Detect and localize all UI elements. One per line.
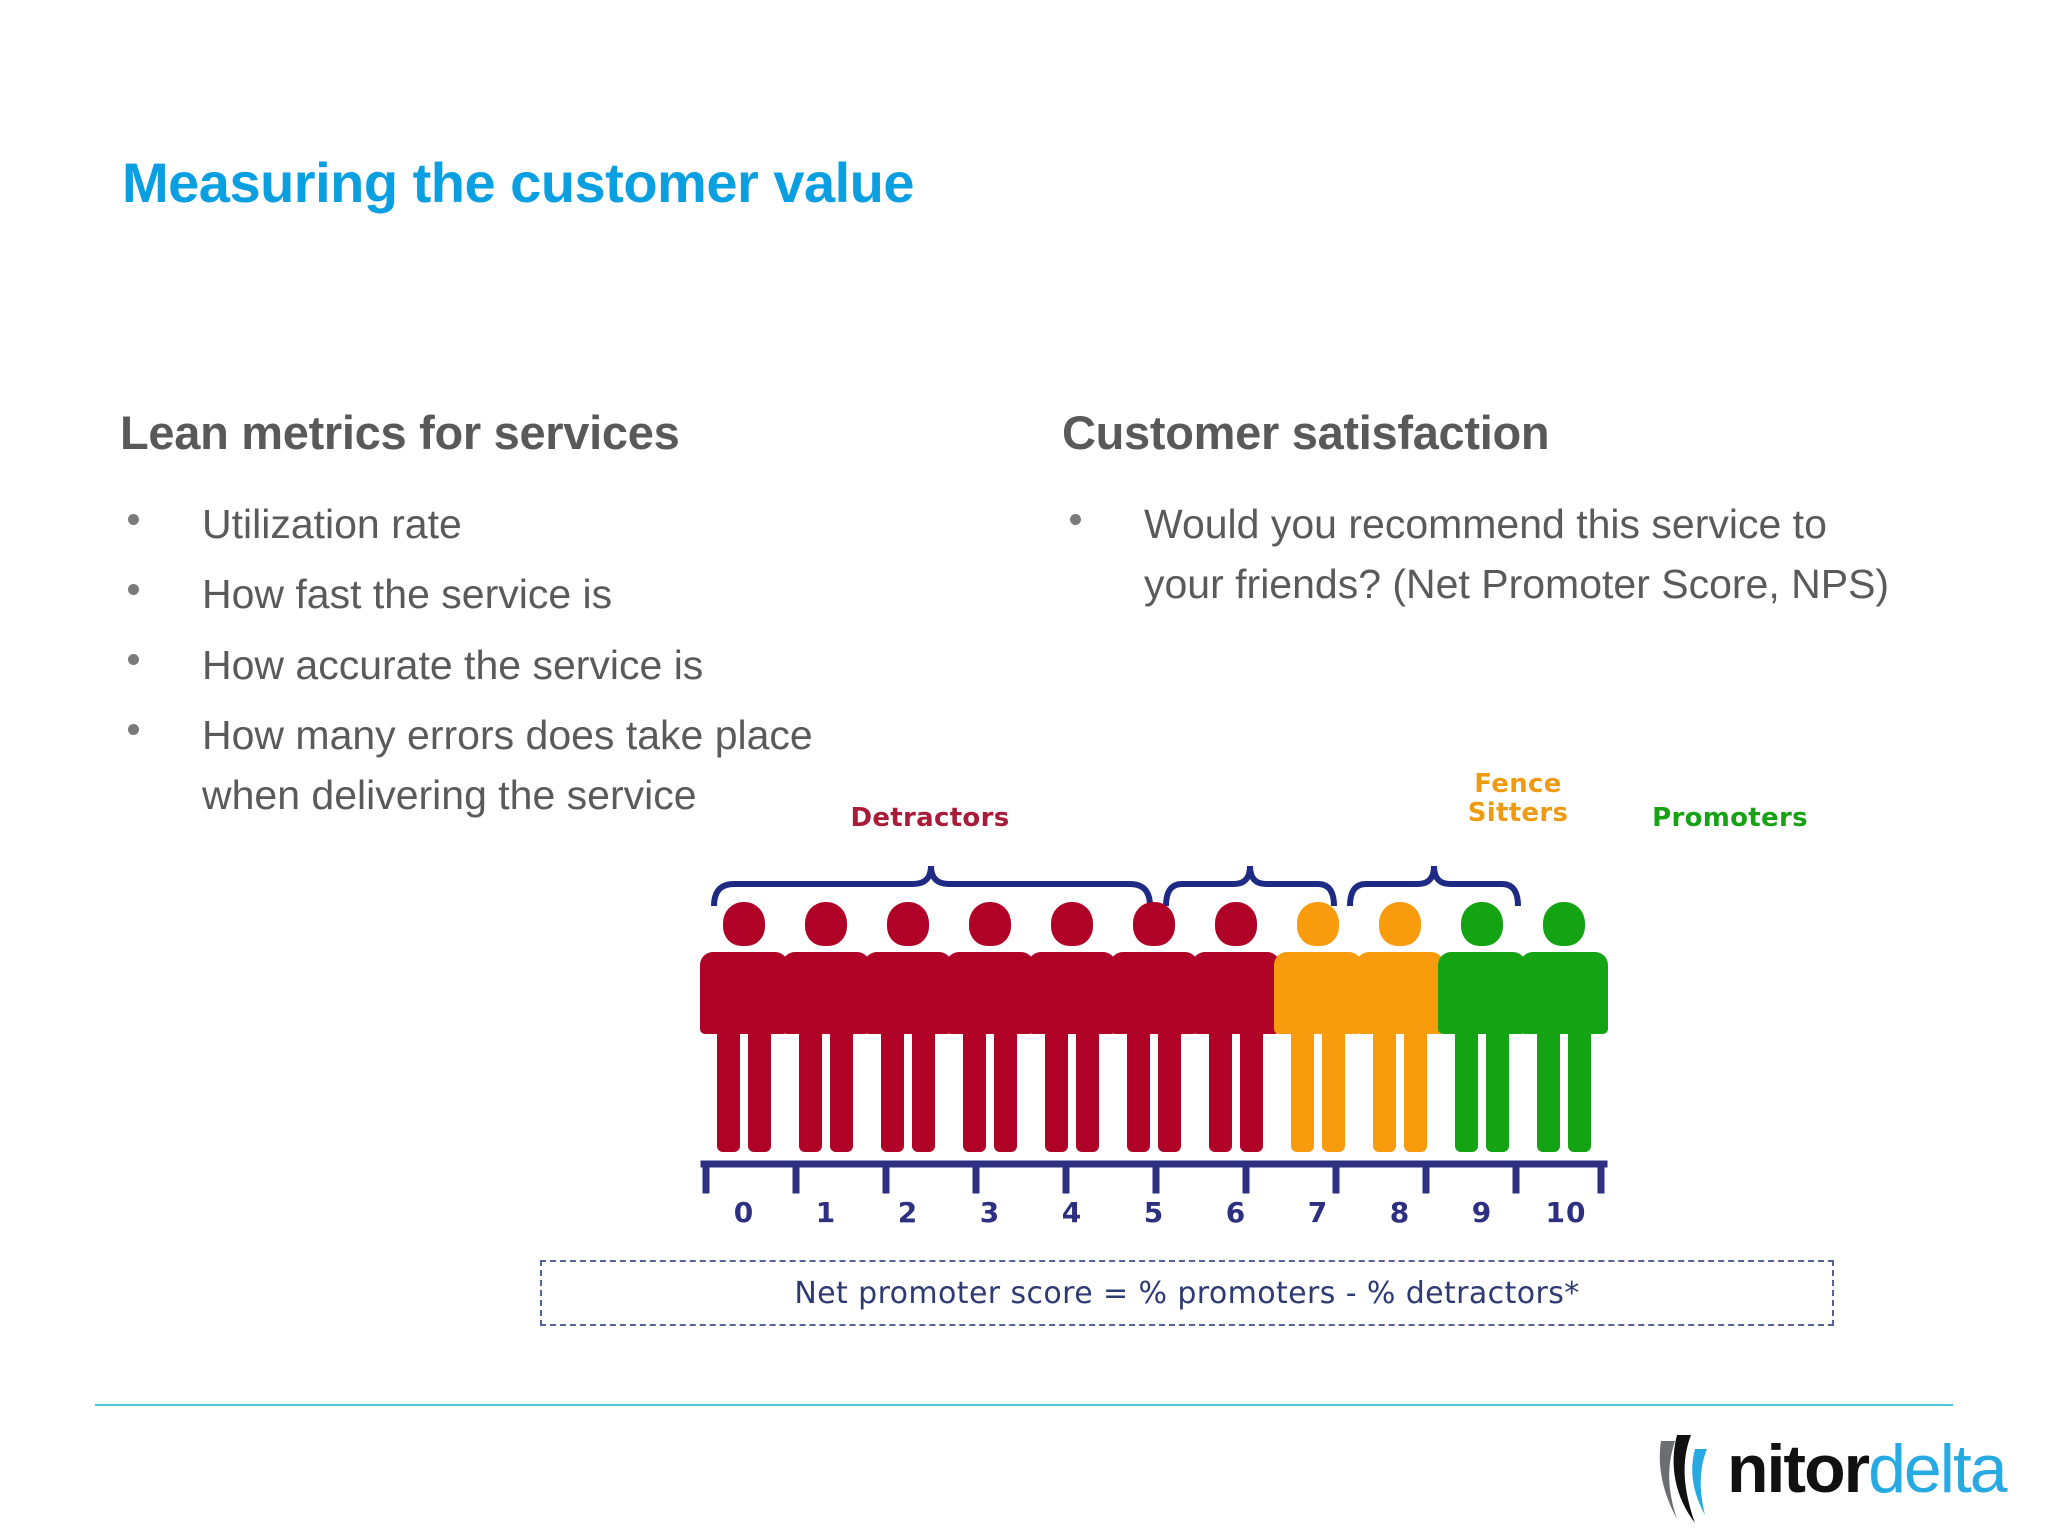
group-braces [700, 852, 2030, 906]
person-leg-left [717, 1030, 740, 1152]
promoters-label: Promoters [1600, 804, 1860, 833]
person-head [1133, 902, 1175, 946]
page-title: Measuring the customer value [122, 150, 914, 215]
scale-number-9: 9 [1452, 1196, 1512, 1229]
scale-number-4: 4 [1042, 1196, 1102, 1229]
person-figure-3 [946, 902, 1034, 1152]
list-item-label: Would you recommend this service to your… [1144, 501, 1889, 607]
person-leg-left [799, 1030, 822, 1152]
promoters-brace [1350, 866, 1518, 906]
person-torso [782, 952, 870, 1034]
nps-diagram: Detractors Fence Sitters Promoters [700, 760, 2030, 1400]
person-torso [1356, 952, 1444, 1034]
person-leg-left [1373, 1030, 1396, 1152]
person-figure-10 [1520, 902, 1608, 1152]
list-item-label: How accurate the service is [202, 642, 703, 688]
person-head [1461, 902, 1503, 946]
slide-canvas: Measuring the customer value Lean metric… [0, 0, 2048, 1536]
person-leg-left [963, 1030, 986, 1152]
right-column-heading: Customer satisfaction [1062, 405, 1892, 460]
fence-sitters-label: Fence Sitters [1438, 770, 1598, 828]
person-torso [700, 952, 788, 1034]
person-figure-7 [1274, 902, 1362, 1152]
right-column: Customer satisfaction Would you recommen… [1062, 405, 1892, 625]
scale-number-5: 5 [1124, 1196, 1184, 1229]
scale-number-2: 2 [878, 1196, 938, 1229]
person-torso [1110, 952, 1198, 1034]
person-head [1051, 902, 1093, 946]
bullet-dot-icon [128, 514, 139, 525]
person-head [887, 902, 929, 946]
scale-number-3: 3 [960, 1196, 1020, 1229]
person-figure-5 [1110, 902, 1198, 1152]
person-leg-right [1076, 1030, 1099, 1152]
nitor-delta-logo: nitordelta [1655, 1425, 1955, 1525]
list-item-label: Utilization rate [202, 501, 462, 547]
list-item: Would you recommend this service to your… [1062, 494, 1892, 615]
person-leg-left [1209, 1030, 1232, 1152]
scale-number-10: 10 [1536, 1196, 1596, 1229]
scale-number-6: 6 [1206, 1196, 1266, 1229]
bullet-dot-icon [128, 654, 139, 665]
list-item: How accurate the service is [120, 635, 910, 695]
score-axis-svg [700, 1160, 2030, 1196]
bullet-dot-icon [1070, 514, 1081, 525]
nps-formula-text: Net promoter score = % promoters - % det… [794, 1276, 1579, 1311]
braces-svg [700, 852, 2030, 906]
logo-primary-text: nitor [1727, 1431, 1868, 1507]
person-leg-right [1158, 1030, 1181, 1152]
person-figure-1 [782, 902, 870, 1152]
list-item: How fast the service is [120, 564, 910, 624]
person-figure-8 [1356, 902, 1444, 1152]
person-leg-right [1568, 1030, 1591, 1152]
person-torso [1028, 952, 1116, 1034]
scale-numbers: 0 1 2 3 4 5 6 7 8 9 10 [700, 1196, 2030, 1240]
person-leg-right [830, 1030, 853, 1152]
person-leg-right [1486, 1030, 1509, 1152]
person-torso [1192, 952, 1280, 1034]
person-figure-9 [1438, 902, 1526, 1152]
detractors-brace [714, 866, 1150, 906]
people-figures [700, 902, 2030, 1152]
person-figure-4 [1028, 902, 1116, 1152]
bullet-dot-icon [128, 584, 139, 595]
footer-divider [95, 1404, 1953, 1406]
logo-wordmark: nitordelta [1727, 1435, 2006, 1503]
fence-sitters-brace [1166, 866, 1334, 906]
scale-number-0: 0 [714, 1196, 774, 1229]
bullet-dot-icon [128, 724, 139, 735]
list-item-label: How fast the service is [202, 571, 612, 617]
person-head [1379, 902, 1421, 946]
person-figure-6 [1192, 902, 1280, 1152]
fence-sitters-label-line2: Sitters [1438, 799, 1598, 828]
person-leg-right [1404, 1030, 1427, 1152]
person-leg-right [748, 1030, 771, 1152]
person-head [969, 902, 1011, 946]
person-leg-right [1322, 1030, 1345, 1152]
person-leg-left [1455, 1030, 1478, 1152]
person-leg-right [912, 1030, 935, 1152]
person-figure-2 [864, 902, 952, 1152]
fence-sitters-label-line1: Fence [1438, 770, 1598, 799]
nitor-flame-icon [1655, 1427, 1721, 1523]
person-head [1215, 902, 1257, 946]
person-figure-0 [700, 902, 788, 1152]
person-leg-left [1291, 1030, 1314, 1152]
logo-secondary-text: delta [1868, 1431, 2005, 1507]
left-column-heading: Lean metrics for services [120, 405, 910, 460]
scale-number-7: 7 [1288, 1196, 1348, 1229]
score-axis [700, 1160, 2030, 1196]
person-head [723, 902, 765, 946]
person-torso [864, 952, 952, 1034]
customer-satisfaction-list: Would you recommend this service to your… [1062, 494, 1892, 615]
person-torso [1520, 952, 1608, 1034]
person-leg-right [1240, 1030, 1263, 1152]
detractors-label: Detractors [800, 804, 1060, 833]
scale-number-1: 1 [796, 1196, 856, 1229]
person-leg-left [1537, 1030, 1560, 1152]
person-torso [946, 952, 1034, 1034]
person-head [1543, 902, 1585, 946]
person-leg-right [994, 1030, 1017, 1152]
person-torso [1274, 952, 1362, 1034]
person-leg-left [881, 1030, 904, 1152]
nps-group-labels: Detractors Fence Sitters Promoters [700, 760, 2030, 850]
person-leg-left [1127, 1030, 1150, 1152]
person-head [805, 902, 847, 946]
person-torso [1438, 952, 1526, 1034]
person-leg-left [1045, 1030, 1068, 1152]
list-item: Utilization rate [120, 494, 910, 554]
scale-number-8: 8 [1370, 1196, 1430, 1229]
person-head [1297, 902, 1339, 946]
nps-formula-box: Net promoter score = % promoters - % det… [540, 1260, 1834, 1326]
